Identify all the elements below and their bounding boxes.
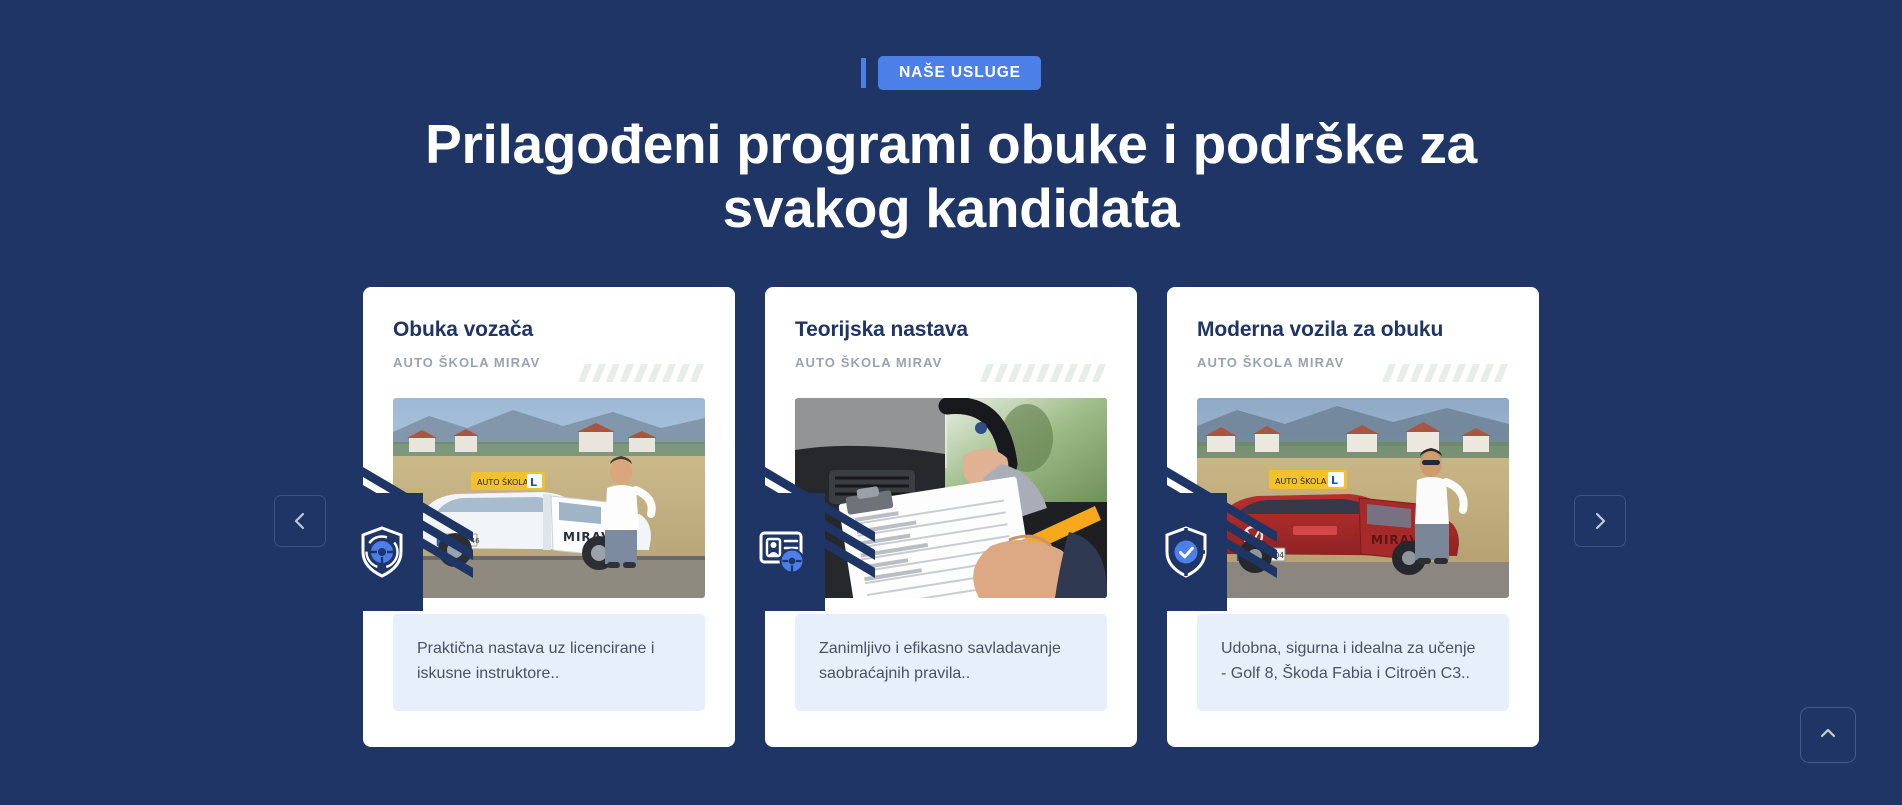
shield-check-icon	[1163, 526, 1209, 578]
chevron-up-icon	[1818, 723, 1838, 748]
service-card[interactable]: Moderna vozila za obuku AUTO ŠKOLA MIRAV	[1167, 287, 1539, 747]
scroll-to-top-button[interactable]	[1800, 707, 1856, 763]
card-description: Udobna, sigurna i idealna za učenje - Go…	[1197, 614, 1509, 712]
shield-steering-wheel-icon	[359, 526, 405, 578]
card-header: Obuka vozača AUTO ŠKOLA MIRAV	[393, 317, 705, 369]
card-header: Teorijska nastava AUTO ŠKOLA MIRAV	[795, 317, 1107, 369]
section-badge: NAŠE USLUGE	[0, 56, 1902, 90]
chevron-right-icon	[1591, 512, 1609, 530]
svg-text:L: L	[530, 476, 537, 489]
card-icon-block	[1145, 493, 1227, 611]
stripe-decoration	[1381, 364, 1511, 382]
svg-text:L: L	[1331, 474, 1338, 487]
card-description: Zanimljivo i efikasno savladavanje saobr…	[795, 614, 1107, 712]
card-icon-block	[743, 493, 825, 611]
card-photo: MIRAV AUTO ŠKOLA L PG LD246	[393, 398, 705, 598]
service-card[interactable]: Obuka vozača AUTO ŠKOLA MIRAV	[363, 287, 735, 747]
card-title: Obuka vozača	[393, 317, 705, 343]
card-photo	[795, 398, 1107, 598]
license-card-steering-wheel-icon	[758, 528, 810, 576]
chevron-left-icon	[291, 512, 309, 530]
carousel-next-button[interactable]	[1574, 495, 1626, 547]
stripe-decoration	[577, 364, 707, 382]
svg-text:AUTO ŠKOLA: AUTO ŠKOLA	[477, 476, 529, 487]
card-media: MIRAV AUTO ŠKOLA L PG M	[1197, 398, 1509, 598]
card-icon-block	[341, 493, 423, 611]
card-title: Moderna vozila za obuku	[1197, 317, 1509, 343]
card-photo: MIRAV AUTO ŠKOLA L PG M	[1197, 398, 1509, 598]
card-media: MIRAV AUTO ŠKOLA L PG LD246	[393, 398, 705, 598]
badge-accent-bar	[861, 58, 866, 88]
carousel-prev-button[interactable]	[274, 495, 326, 547]
card-title: Teorijska nastava	[795, 317, 1107, 343]
service-card[interactable]: Teorijska nastava AUTO ŠKOLA MIRAV	[765, 287, 1137, 747]
stripe-decoration	[979, 364, 1109, 382]
section-title: Prilagođeni programi obuke i podrške za …	[381, 112, 1521, 242]
services-section-header: NAŠE USLUGE Prilagođeni programi obuke i…	[0, 0, 1902, 241]
card-description: Praktična nastava uz licencirane i iskus…	[393, 614, 705, 712]
svg-text:AUTO ŠKOLA: AUTO ŠKOLA	[1275, 475, 1327, 486]
card-header: Moderna vozila za obuku AUTO ŠKOLA MIRAV	[1197, 317, 1509, 369]
section-badge-label: NAŠE USLUGE	[878, 56, 1041, 90]
services-carousel: Obuka vozača AUTO ŠKOLA MIRAV	[0, 287, 1902, 747]
card-media	[795, 398, 1107, 598]
